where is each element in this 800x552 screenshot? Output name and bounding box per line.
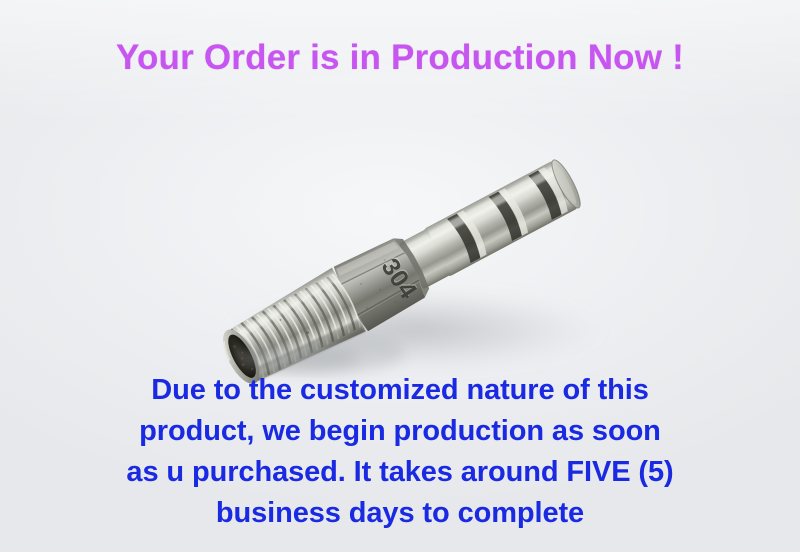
notice-line-2: product, we begin production as soon [0, 411, 800, 452]
production-notice: Due to the customized nature of this pro… [0, 370, 800, 534]
promo-image: 304 304 [0, 0, 800, 552]
page-title: Your Order is in Production Now ! [0, 38, 800, 78]
notice-line-3: as u purchased. It takes around FIVE (5) [0, 452, 800, 493]
notice-line-1: Due to the customized nature of this [0, 370, 800, 411]
notice-line-4: business days to complete [0, 493, 800, 534]
